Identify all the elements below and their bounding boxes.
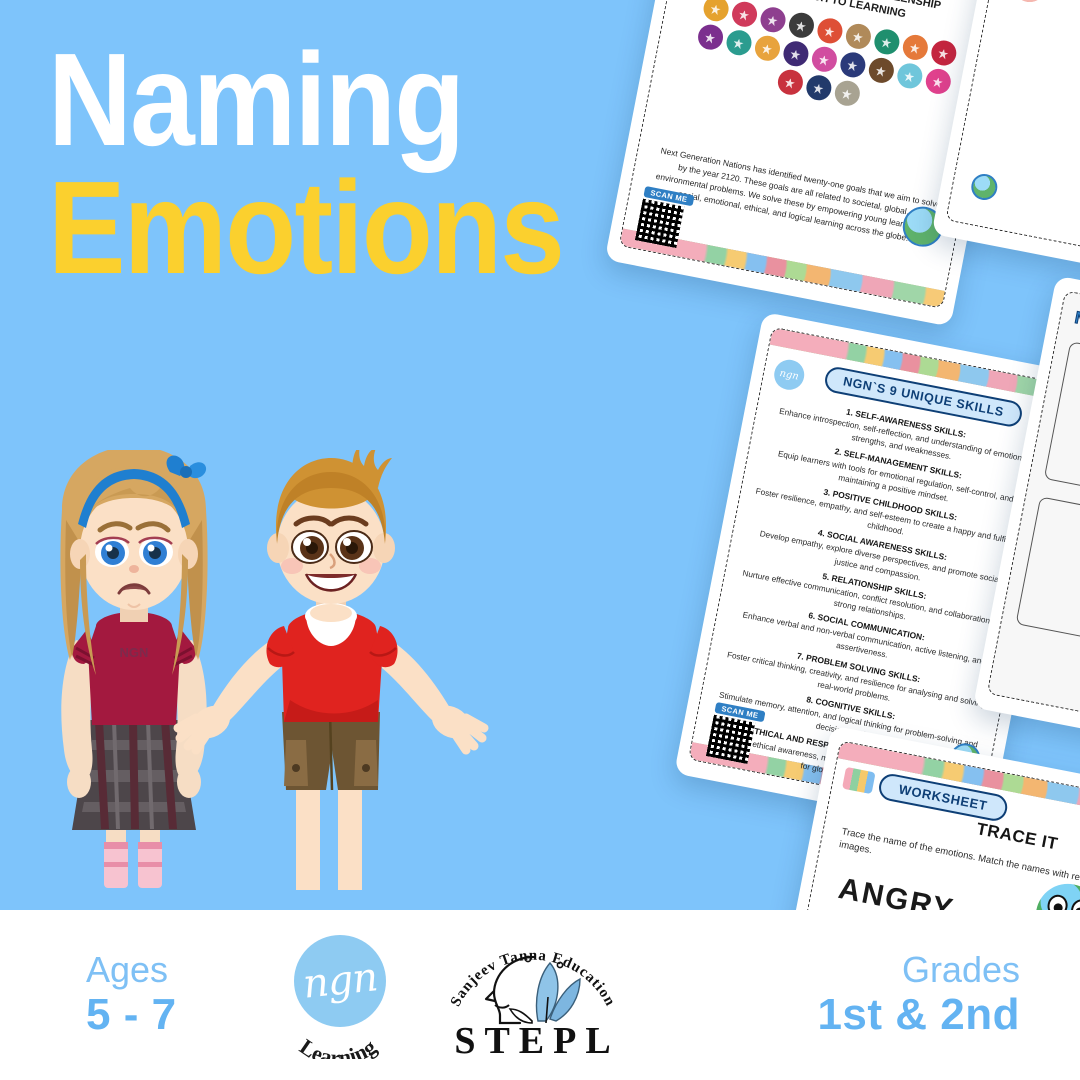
sdg-goal-circle-14 [809,45,838,74]
sdg-goal-circle-17 [895,61,924,90]
sdg-goal-circle-1 [701,0,730,23]
worksheet-subtitle: TRACE IT [975,819,1060,853]
ngn-learning-logo: ngn Learning [272,931,404,1059]
logo-group: ngn Learning Sanjeev Tanna Education [272,925,628,1065]
ngn-logo-arc: Learning [272,931,404,1059]
ages-label: Ages [86,949,177,990]
footer-bar: Ages 5 - 7 ngn Learning Sanjeev Tanna Ed… [0,910,1080,1080]
qr-code-image [706,715,755,764]
emotion-step-row: 3Say it: Tell how you feel. [1010,0,1080,50]
ngn-logo-arc-text: Learning [295,1034,381,1059]
seel-card-body: NGN offers setup activities, worksheets,… [1076,356,1080,425]
sdg-goal-circle-3 [758,5,787,34]
title-line-emotions: Emotions [48,166,563,290]
character-illustration-group: NGN [0,450,580,920]
sdg-goal-circle-20 [804,73,833,102]
sdg-goal-circle-5 [815,16,844,45]
seel-card-heading: NGN SEEL [1073,308,1080,344]
girl-shirt-logo-text: NGN [120,645,149,660]
sdg-goal-circle-8 [900,33,929,62]
sdg-goal-circle-7 [872,27,901,56]
sdg-goal-circle-11 [724,28,753,57]
qr-code-image [635,199,684,248]
grades-label: Grades [817,949,1020,990]
character-sad-girl: NGN [60,450,207,888]
grades-block: Grades 1st & 2nd [817,949,1020,1041]
stepl-logo: Sanjeev Tanna Education STEPL [438,925,628,1065]
sdg-goal-circle-9 [929,38,958,67]
name-emotion-steps: 1Think it: Check your heart, stomach, an… [1007,0,1080,66]
sdg-goal-circle-2 [729,0,758,29]
sdg-goal-circle-15 [838,50,867,79]
ages-value: 5 - 7 [86,990,177,1041]
kids-thumbnail-icon [842,767,876,794]
title-line-naming: Naming [48,38,563,162]
step-text: Say it: Tell how you feel. [1056,0,1080,9]
page-title: Naming Emotions [48,38,633,290]
stepl-head-leaf-icon [476,951,594,1029]
sdg-goal-circle-16 [866,56,895,85]
sdg-goal-circle-21 [832,79,861,108]
svg-text:Learning: Learning [295,1034,381,1059]
sdg-goal-circle-12 [752,33,781,62]
poster-canvas: Naming Emotions [0,0,1080,1080]
grades-value: 1st & 2nd [817,990,1020,1041]
qr-scan-me-badge[interactable]: SCAN ME [635,186,695,250]
sdg-goal-circle-13 [781,39,810,68]
ngn-badge-icon: ngn [772,357,807,392]
sdg-goal-circle-19 [775,67,804,96]
sdg-goal-circle-6 [843,22,872,51]
qr-scan-me-badge[interactable]: SCAN ME [706,702,766,766]
sdg-goal-circle-10 [695,22,724,51]
stepl-logo-wordmark: STEPL [438,1019,628,1063]
globe-icon [969,172,999,202]
sdg-goal-circle-18 [923,67,952,96]
sdg-goal-circle-4 [786,11,815,40]
step-number-badge-3: 3 [1010,0,1050,5]
ages-block: Ages 5 - 7 [86,949,177,1041]
character-happy-boy [178,450,484,890]
